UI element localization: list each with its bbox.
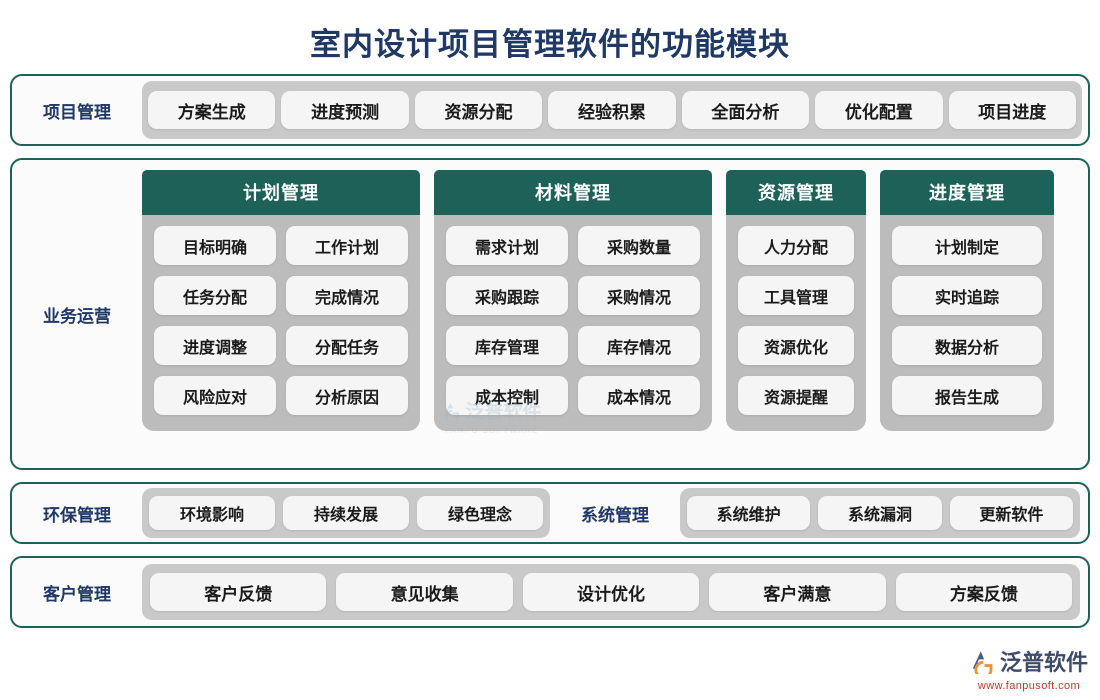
pill-customer-2[interactable]: 设计优化 <box>523 573 699 611</box>
fanpu-mark-icon <box>970 648 996 678</box>
brand-logo: 泛普软件 www.fanpusoft.com <box>970 648 1088 692</box>
pill-project-1[interactable]: 进度预测 <box>281 91 408 129</box>
column-header-plan-management: 计划管理 <box>142 170 420 215</box>
business-columns: 计划管理 目标明确 工作计划 任务分配 完成情况 进度调整 分配任务 风险应对 … <box>142 160 1088 468</box>
section-label-project-management: 项目管理 <box>12 98 142 123</box>
pill-material-1[interactable]: 采购数量 <box>578 226 700 265</box>
pill-material-4[interactable]: 库存管理 <box>446 326 568 365</box>
pill-project-3[interactable]: 经验积累 <box>548 91 675 129</box>
pill-plan-6[interactable]: 风险应对 <box>154 376 276 415</box>
pill-resource-3[interactable]: 资源提醒 <box>738 376 854 415</box>
pill-progress-2[interactable]: 数据分析 <box>892 326 1042 365</box>
section-business-operations: 业务运营 计划管理 目标明确 工作计划 任务分配 完成情况 进度调整 分配任务 … <box>10 158 1090 470</box>
pill-project-2[interactable]: 资源分配 <box>415 91 542 129</box>
customer-items-tray: 客户反馈 意见收集 设计优化 客户满意 方案反馈 <box>142 564 1080 620</box>
pill-material-2[interactable]: 采购跟踪 <box>446 276 568 315</box>
pill-env-0[interactable]: 环境影响 <box>149 496 275 530</box>
pill-resource-2[interactable]: 资源优化 <box>738 326 854 365</box>
pill-customer-1[interactable]: 意见收集 <box>336 573 512 611</box>
pill-plan-2[interactable]: 任务分配 <box>154 276 276 315</box>
column-header-progress-management: 进度管理 <box>880 170 1054 215</box>
pill-customer-4[interactable]: 方案反馈 <box>896 573 1072 611</box>
pill-env-1[interactable]: 持续发展 <box>283 496 409 530</box>
pill-system-2[interactable]: 更新软件 <box>950 496 1073 530</box>
pill-plan-1[interactable]: 工作计划 <box>286 226 408 265</box>
pill-resource-0[interactable]: 人力分配 <box>738 226 854 265</box>
column-header-resource-management: 资源管理 <box>726 170 866 215</box>
pill-progress-1[interactable]: 实时追踪 <box>892 276 1042 315</box>
pill-project-5[interactable]: 优化配置 <box>815 91 942 129</box>
pill-material-5[interactable]: 库存情况 <box>578 326 700 365</box>
column-plan-management: 计划管理 目标明确 工作计划 任务分配 完成情况 进度调整 分配任务 风险应对 … <box>142 170 420 431</box>
pill-material-3[interactable]: 采购情况 <box>578 276 700 315</box>
pill-plan-4[interactable]: 进度调整 <box>154 326 276 365</box>
page-title: 室内设计项目管理软件的功能模块 <box>0 0 1100 74</box>
project-items-tray: 方案生成 进度预测 资源分配 经验积累 全面分析 优化配置 项目进度 <box>142 81 1082 139</box>
environment-items-tray: 环境影响 持续发展 绿色理念 <box>142 488 550 538</box>
section-label-environment-management: 环保管理 <box>12 501 142 526</box>
pill-project-6[interactable]: 项目进度 <box>949 91 1076 129</box>
pill-plan-0[interactable]: 目标明确 <box>154 226 276 265</box>
pill-material-0[interactable]: 需求计划 <box>446 226 568 265</box>
column-body-plan-management: 目标明确 工作计划 任务分配 完成情况 进度调整 分配任务 风险应对 分析原因 <box>142 215 420 431</box>
pill-system-1[interactable]: 系统漏洞 <box>818 496 941 530</box>
pill-env-2[interactable]: 绿色理念 <box>417 496 543 530</box>
section-project-management: 项目管理 方案生成 进度预测 资源分配 经验积累 全面分析 优化配置 项目进度 <box>10 74 1090 146</box>
column-body-progress-management: 计划制定 实时追踪 数据分析 报告生成 <box>880 215 1054 431</box>
pill-material-7[interactable]: 成本情况 <box>578 376 700 415</box>
section-label-customer-management: 客户管理 <box>12 580 142 605</box>
section-customer-management: 客户管理 客户反馈 意见收集 设计优化 客户满意 方案反馈 <box>10 556 1090 628</box>
brand-url: www.fanpusoft.com <box>970 681 1088 692</box>
pill-customer-3[interactable]: 客户满意 <box>709 573 885 611</box>
pill-progress-0[interactable]: 计划制定 <box>892 226 1042 265</box>
column-body-material-management: 需求计划 采购数量 采购跟踪 采购情况 库存管理 库存情况 成本控制 成本情况 <box>434 215 712 431</box>
column-body-resource-management: 人力分配 工具管理 资源优化 资源提醒 <box>726 215 866 431</box>
system-items-tray: 系统维护 系统漏洞 更新软件 <box>680 488 1080 538</box>
pill-system-0[interactable]: 系统维护 <box>687 496 810 530</box>
section-environment-and-system: 环保管理 环境影响 持续发展 绿色理念 系统管理 系统维护 系统漏洞 更新软件 <box>10 482 1090 544</box>
column-progress-management: 进度管理 计划制定 实时追踪 数据分析 报告生成 <box>880 170 1054 431</box>
pill-plan-3[interactable]: 完成情况 <box>286 276 408 315</box>
pill-material-6[interactable]: 成本控制 <box>446 376 568 415</box>
brand-name: 泛普软件 <box>1000 652 1088 674</box>
column-resource-management: 资源管理 人力分配 工具管理 资源优化 资源提醒 <box>726 170 866 431</box>
pill-project-4[interactable]: 全面分析 <box>682 91 809 129</box>
pill-plan-5[interactable]: 分配任务 <box>286 326 408 365</box>
section-label-system-management: 系统管理 <box>550 501 680 526</box>
pill-customer-0[interactable]: 客户反馈 <box>150 573 326 611</box>
section-label-business-operations: 业务运营 <box>12 160 142 468</box>
column-material-management: 材料管理 需求计划 采购数量 采购跟踪 采购情况 库存管理 库存情况 成本控制 … <box>434 170 712 431</box>
column-header-material-management: 材料管理 <box>434 170 712 215</box>
pill-resource-1[interactable]: 工具管理 <box>738 276 854 315</box>
brand-row: 泛普软件 <box>970 648 1088 678</box>
pill-plan-7[interactable]: 分析原因 <box>286 376 408 415</box>
diagram-root: 室内设计项目管理软件的功能模块 项目管理 方案生成 进度预测 资源分配 经验积累… <box>0 0 1100 700</box>
pill-project-0[interactable]: 方案生成 <box>148 91 275 129</box>
pill-progress-3[interactable]: 报告生成 <box>892 376 1042 415</box>
